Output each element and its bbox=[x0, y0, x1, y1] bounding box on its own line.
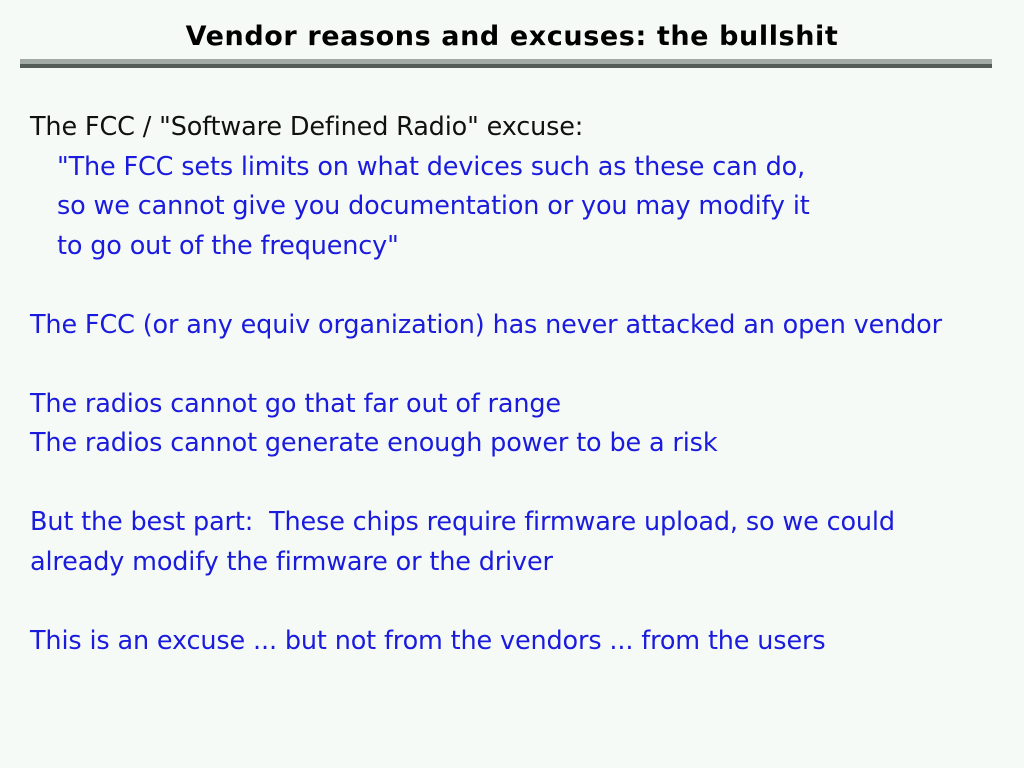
slide-title-block: Vendor reasons and excuses: the bullshit bbox=[0, 22, 1024, 52]
body-text-line: This is an excuse ... but not from the v… bbox=[30, 622, 1005, 662]
body-text-line: The radios cannot generate enough power … bbox=[30, 424, 1005, 464]
slide-body: The FCC / "Software Defined Radio" excus… bbox=[30, 108, 1005, 661]
body-text-line: so we cannot give you documentation or y… bbox=[30, 187, 1005, 227]
body-text-line: "The FCC sets limits on what devices suc… bbox=[30, 148, 1005, 188]
body-spacer-line bbox=[30, 345, 1005, 385]
title-divider-shadow bbox=[20, 64, 992, 68]
page-title: Vendor reasons and excuses: the bullshit bbox=[186, 22, 839, 52]
body-text-line: But the best part: These chips require f… bbox=[30, 503, 1005, 543]
body-spacer-line bbox=[30, 464, 1005, 504]
body-spacer-line bbox=[30, 582, 1005, 622]
slide-canvas: Vendor reasons and excuses: the bullshit… bbox=[0, 0, 1024, 768]
body-text-line: The FCC (or any equiv organization) has … bbox=[30, 306, 1005, 346]
body-text-line: already modify the firmware or the drive… bbox=[30, 543, 1005, 583]
body-text-line: The radios cannot go that far out of ran… bbox=[30, 385, 1005, 425]
body-spacer-line bbox=[30, 266, 1005, 306]
body-text-line: The FCC / "Software Defined Radio" excus… bbox=[30, 108, 1005, 148]
title-divider bbox=[20, 59, 992, 68]
body-text-line: to go out of the frequency" bbox=[30, 227, 1005, 267]
